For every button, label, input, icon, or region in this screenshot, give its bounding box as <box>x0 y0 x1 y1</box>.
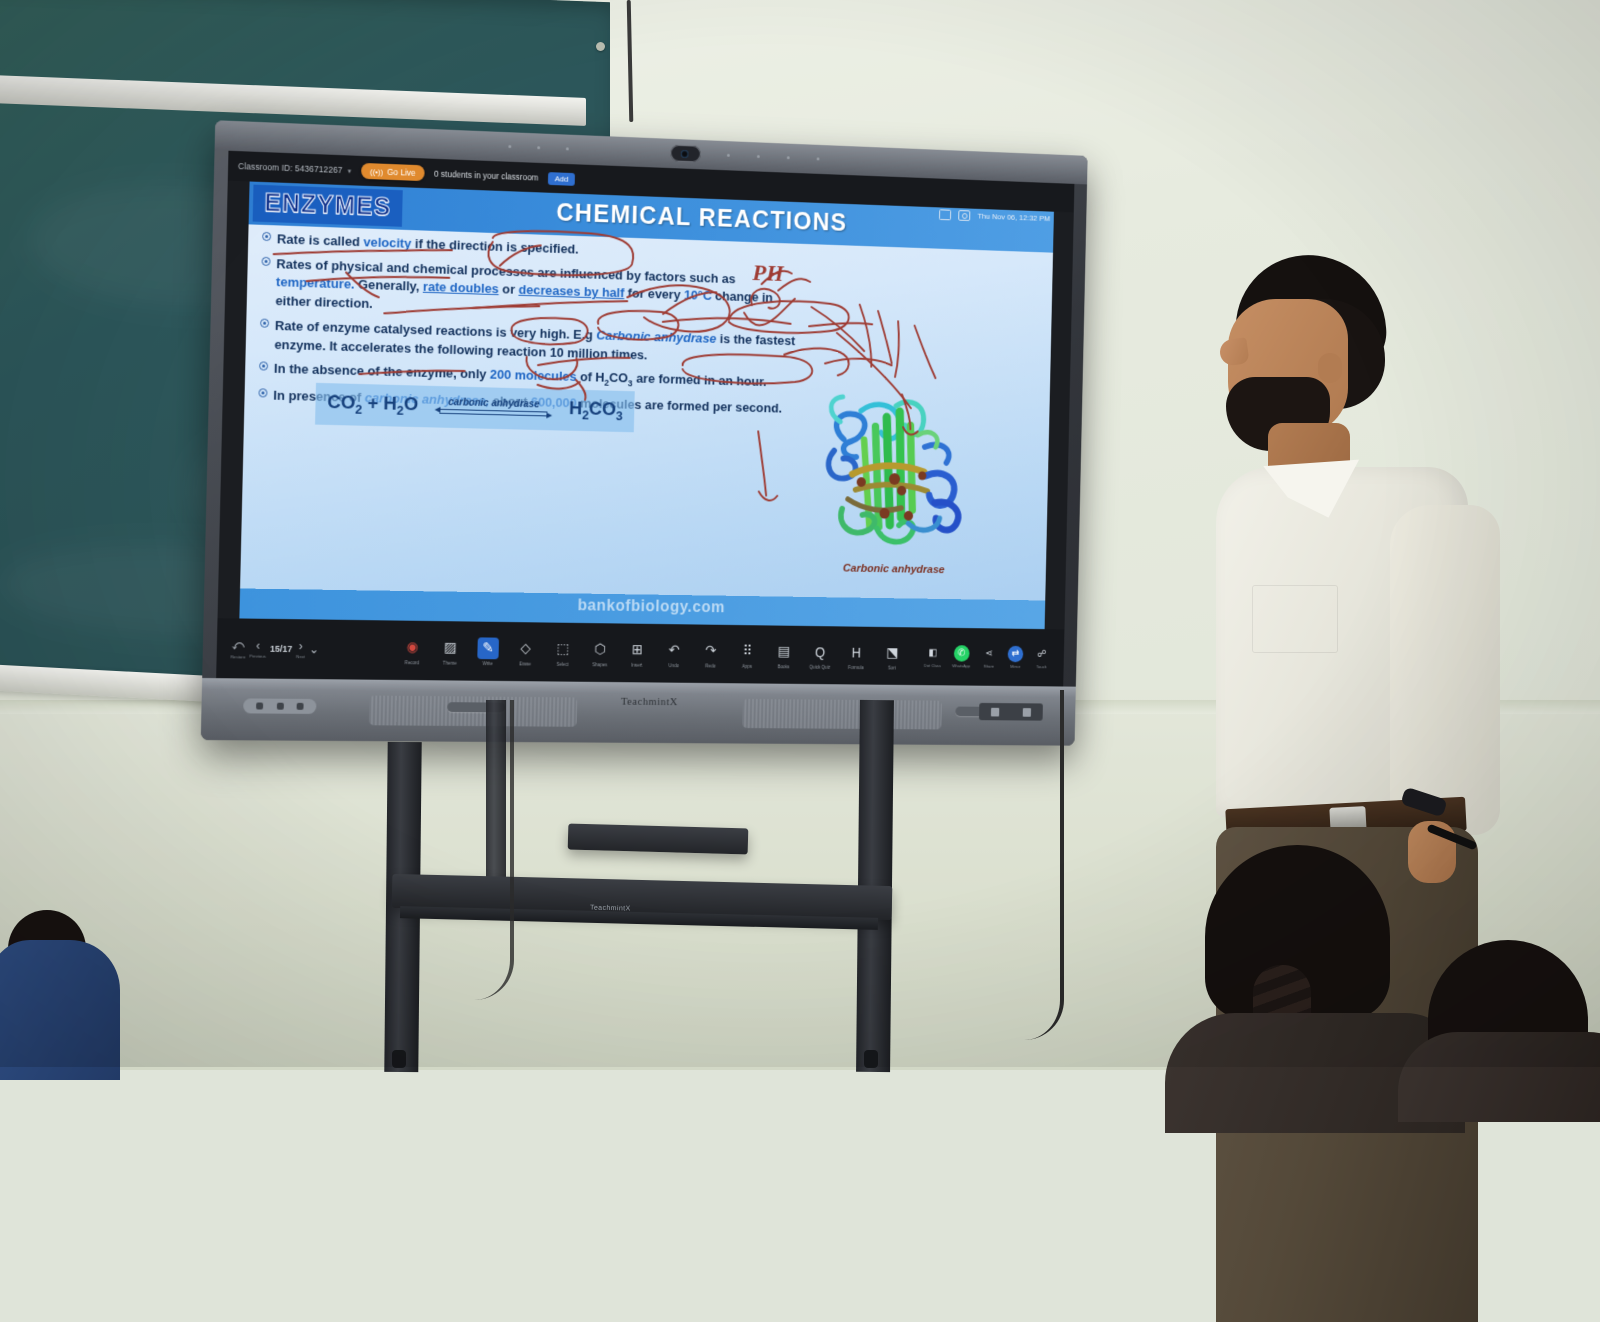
tool-label: Erase <box>519 661 531 666</box>
insert-icon: ⊞ <box>626 639 647 661</box>
student-foreground-right <box>1418 940 1600 1067</box>
tool-label: Theme <box>443 660 457 665</box>
share-icon: ⋖ <box>981 646 997 662</box>
panel-bezel: Classroom ID: 5436712267 ▾ ((•)) Go Live… <box>201 120 1088 745</box>
formula-icon: H <box>846 641 867 662</box>
bullet-text: Rates of physical and chemical processes… <box>275 255 799 327</box>
panel-brand-label: TeachmintX <box>621 696 678 708</box>
tool-label: Formula <box>848 665 864 670</box>
restore-icon: ⤺ <box>232 638 245 653</box>
dot-class-icon: ◧ <box>925 645 941 661</box>
tool-label: Shapes <box>592 662 607 667</box>
sort-icon: ⬔ <box>882 642 903 663</box>
tool-quick-quiz[interactable]: QQuick Quiz <box>806 641 834 669</box>
tool-theme[interactable]: ▨Theme <box>435 636 465 665</box>
stand-wheel-left <box>392 1050 406 1068</box>
tool-label: Select <box>556 661 568 666</box>
go-live-label: Go Live <box>387 167 416 178</box>
tool-touch[interactable]: ☍Touch <box>1034 646 1050 669</box>
bullet-text: Rate of enzyme catalysed reactions is ve… <box>274 317 798 369</box>
tool-redo[interactable]: ↷Redo <box>696 640 725 669</box>
chevron-down-icon: ▾ <box>348 168 352 175</box>
shapes-icon: ⬡ <box>589 638 610 660</box>
tool-record[interactable]: ◉Record <box>397 636 427 665</box>
equation-reactants: CO2 + H2O <box>327 392 418 418</box>
add-student-button[interactable]: Add <box>548 172 575 186</box>
tool-label: Mirror <box>1010 664 1020 669</box>
reversible-arrow-icon <box>436 407 552 420</box>
presenter-shirt-pocket <box>1252 585 1338 653</box>
bullet-dot-icon <box>259 362 268 371</box>
classroom-id-label[interactable]: Classroom ID: 5436712267 ▾ <box>238 161 352 175</box>
slide-canvas[interactable]: ENZYMES CHEMICAL REACTIONS Thu Nov 06, 1… <box>239 181 1054 629</box>
quiz-icon: Q <box>810 641 831 662</box>
chevron-down-icon: ⌄ <box>309 642 319 656</box>
restore-button[interactable]: ⤺ Restore <box>230 638 245 659</box>
enzymes-badge-label: ENZYMES <box>264 189 392 222</box>
power-cable <box>1020 690 1064 1040</box>
pen-icon: ✎ <box>477 637 499 659</box>
presenter-ear <box>1318 353 1342 383</box>
tool-label: Books <box>777 664 789 669</box>
panel-speaker-right <box>742 699 942 730</box>
panel-screen: Classroom ID: 5436712267 ▾ ((•)) Go Live… <box>216 151 1074 687</box>
bezel-mic-array <box>508 145 829 161</box>
drawing-tools: ◉Record▨Theme✎Write◇Erase⬚Select⬡Shapes⊞… <box>378 636 924 671</box>
books-icon: ▤ <box>773 641 794 663</box>
bullet-dot-icon <box>258 388 267 397</box>
panel-bottom-bezel: TeachmintX <box>201 678 1076 746</box>
figure-caption: Carbonic anhydrase <box>813 562 974 576</box>
enzymes-badge: ENZYMES <box>253 185 403 227</box>
tool-books[interactable]: ▤Books <box>769 640 798 668</box>
footer-watermark: bankofbiology.com <box>577 597 725 617</box>
bullet-dot-icon <box>262 256 271 265</box>
tool-insert[interactable]: ⊞Insert <box>622 639 651 668</box>
screen-icon <box>939 209 951 220</box>
interactive-flat-panel: Classroom ID: 5436712267 ▾ ((•)) Go Live… <box>201 120 1088 745</box>
tool-mirror[interactable]: ⇄Mirror <box>1007 646 1023 669</box>
tool-label: Redo <box>705 663 715 668</box>
theme-icon: ▨ <box>439 636 461 658</box>
bullet-dot-icon <box>260 318 269 327</box>
tool-undo[interactable]: ↶Undo <box>659 639 688 668</box>
students-status: 0 students in your classroom <box>434 169 539 183</box>
tool-whatsapp[interactable]: ✆WhatsApp <box>952 645 971 668</box>
tool-select[interactable]: ⬚Select <box>548 638 577 667</box>
next-label: Next <box>296 654 305 659</box>
slide-datetime: Thu Nov 06, 12:32 PM <box>977 212 1050 223</box>
next-page-button[interactable]: › Next <box>296 639 305 659</box>
touch-icon: ☍ <box>1034 646 1050 662</box>
slide-navigation: ⤺ Restore ‹ Previous 15/17 › Next <box>217 638 379 661</box>
bullet-factors: Rates of physical and chemical processes… <box>260 254 799 326</box>
tool-label: Record <box>405 660 420 665</box>
panel-control-pad[interactable] <box>243 698 316 714</box>
select-icon: ⬚ <box>552 638 574 660</box>
record-icon: ◉ <box>401 636 423 658</box>
broadcast-icon: ((•)) <box>370 167 383 176</box>
tool-label: Undo <box>668 663 678 668</box>
tool-share[interactable]: ⋖Share <box>981 646 997 669</box>
share-tools: ◧Dot Class✆WhatsApp⋖Share⇄Mirror☍Touch <box>924 645 1064 670</box>
ceiling-fixture <box>596 42 605 51</box>
tool-dot-class[interactable]: ◧Dot Class <box>924 645 942 668</box>
collapse-toolbar-button[interactable]: ⌄ <box>309 642 319 656</box>
student-body <box>0 940 120 1080</box>
chevron-right-icon: › <box>299 639 303 653</box>
classroom-id-text: Classroom ID: 5436712267 <box>238 161 343 175</box>
chemical-equation: CO2 + H2O carbonic anhydrase H2CO3 <box>315 383 635 432</box>
app-bottom-toolbar: ⤺ Restore ‹ Previous 15/17 › Next <box>216 618 1064 686</box>
previous-label: Previous <box>249 654 266 659</box>
tool-label: Insert <box>631 662 642 667</box>
classroom-scene: Classroom ID: 5436712267 ▾ ((•)) Go Live… <box>0 0 1600 1067</box>
tool-formula[interactable]: HFormula <box>842 641 870 669</box>
tool-label: Quick Quiz <box>809 664 830 669</box>
bullet-dot-icon <box>262 232 271 241</box>
chevron-left-icon: ‹ <box>256 639 260 653</box>
whatsapp-icon: ✆ <box>953 645 969 661</box>
tool-label: WhatsApp <box>952 663 970 668</box>
student-foreground-left <box>1205 845 1445 1067</box>
equation-products: H2CO3 <box>569 398 623 423</box>
undo-icon: ↶ <box>663 639 684 661</box>
protein-ribbon-figure <box>804 380 983 562</box>
mirror-icon: ⇄ <box>1008 646 1024 662</box>
stand-wheel-right <box>864 1050 878 1068</box>
restore-label: Restore <box>230 654 245 659</box>
redo-icon: ↷ <box>700 640 721 662</box>
presenter-arm <box>1390 505 1500 835</box>
tool-label: Sort <box>888 665 896 670</box>
tool-label: Apps <box>742 663 752 668</box>
tool-sort[interactable]: ⬔Sort <box>878 642 906 670</box>
apps-grid-icon: ⠿ <box>737 640 758 662</box>
eraser-icon: ◇ <box>515 637 537 659</box>
stand-shelf-small <box>568 823 749 854</box>
presenter-nose <box>1218 337 1249 367</box>
page-indicator: 15/17 <box>270 644 292 654</box>
side-cable <box>470 700 514 1000</box>
tool-write[interactable]: ✎Write <box>473 637 503 666</box>
student-shoulders <box>1398 1032 1600 1122</box>
tool-shapes[interactable]: ⬡Shapes <box>585 638 614 667</box>
previous-page-button[interactable]: ‹ Previous <box>249 639 266 659</box>
tool-label: Write <box>482 661 492 666</box>
tool-label: Dot Class <box>924 663 941 668</box>
tool-label: Touch <box>1036 664 1046 669</box>
go-live-button[interactable]: ((•)) Go Live <box>361 163 425 181</box>
tool-apps[interactable]: ⠿Apps <box>733 640 762 668</box>
tool-label: Share <box>984 664 995 669</box>
student-corner <box>0 920 140 1070</box>
tool-erase[interactable]: ◇Erase <box>511 637 540 666</box>
camera-icon <box>958 210 970 221</box>
